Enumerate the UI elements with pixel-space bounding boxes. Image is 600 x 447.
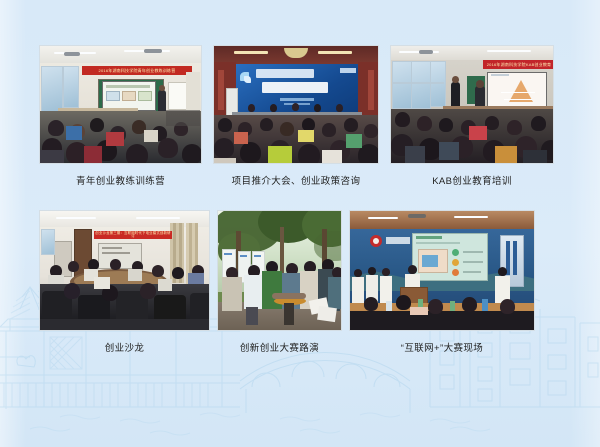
kab-entrepreneurship-education-training-photo[interactable]: 2016年湖南科技学院KAB创业教育 (390, 45, 554, 164)
photo-banner-text: 创业沙龙第三期：互联网时代下电业模式创新研讨 (94, 231, 172, 239)
caption-roadshow: 创新创业大赛路演 (240, 342, 319, 355)
innovation-entrepreneurship-competition-roadshow-photo[interactable] (217, 210, 342, 331)
caption-youth-coach-camp: 青年创业教练训练营 (76, 175, 165, 188)
gallery-item-entrepreneurship-salon[interactable]: 创业沙龙第三期：互联网时代下电业模式创新研讨 (39, 210, 210, 355)
gallery-row-2: 创业沙龙第三期：互联网时代下电业模式创新研讨 (39, 210, 564, 355)
caption-internet-plus: “互联网+”大赛现场 (401, 342, 483, 355)
internet-plus-competition-site-photo[interactable] (349, 210, 535, 331)
photo-banner-text: 2016年湖南科技学院KAB创业教育 (483, 60, 554, 69)
youth-entrepreneurship-coach-training-camp-photo[interactable]: 2016年湖南科技学院青年创业教练训练营 (39, 45, 202, 164)
project-promotion-conference-policy-consultation-photo[interactable] (213, 45, 379, 164)
gallery-item-internet-plus[interactable]: “互联网+”大赛现场 (349, 210, 535, 355)
gallery-item-kab-training[interactable]: 2016年湖南科技学院KAB创业教育 (390, 45, 554, 210)
gallery-item-project-promotion[interactable]: 项目推介大会、创业政策咨询 (213, 45, 379, 210)
gallery-row-1: 2016年湖南科技学院青年创业教练训练营 (39, 45, 564, 210)
right-sheen (570, 0, 600, 447)
gallery-item-roadshow[interactable]: 创新创业大赛路演 (217, 210, 342, 355)
caption-kab-training: KAB创业教育培训 (432, 175, 512, 188)
caption-project-promotion: 项目推介大会、创业政策咨询 (232, 175, 361, 188)
photo-gallery: 2016年湖南科技学院青年创业教练训练营 (39, 45, 564, 355)
photo-banner-text: 2016年湖南科技学院青年创业教练训练营 (82, 66, 192, 75)
left-sheen (0, 0, 26, 447)
caption-entrepreneurship-salon: 创业沙龙 (105, 342, 145, 355)
gallery-item-youth-coach-camp[interactable]: 2016年湖南科技学院青年创业教练训练营 (39, 45, 202, 210)
entrepreneurship-salon-photo[interactable]: 创业沙龙第三期：互联网时代下电业模式创新研讨 (39, 210, 210, 331)
